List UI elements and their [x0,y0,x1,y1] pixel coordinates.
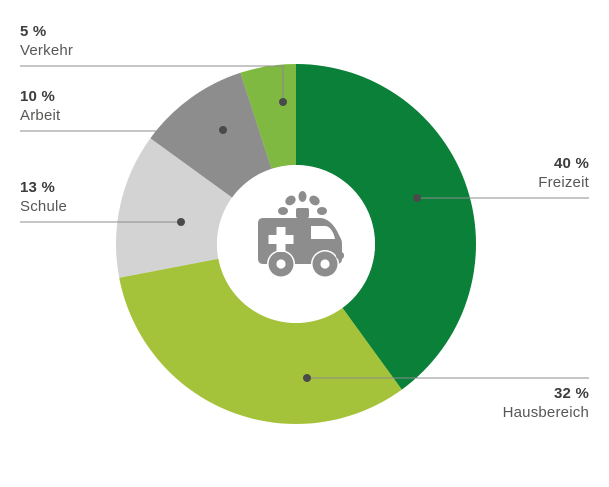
callout-value-verkehr: 5 % [20,22,240,41]
leader-dot-freizeit [413,194,421,202]
callout-label-hausbereich[interactable]: 32 % Hausbereich [369,384,589,423]
leader-dot-hausbereich [303,374,311,382]
callout-value-freizeit: 40 % [369,154,589,173]
leader-dot-schule [177,218,185,226]
callout-value-arbeit: 10 % [20,87,240,106]
callout-name-verkehr: Verkehr [20,41,240,61]
callout-label-verkehr[interactable]: 5 % Verkehr [20,22,240,61]
leader-dot-arbeit [219,126,227,134]
callout-name-schule: Schule [20,197,240,217]
donut-chart-figure: 5 % Verkehr 10 % Arbeit 13 % Schule 40 %… [0,0,609,487]
callout-name-freizeit: Freizeit [369,173,589,193]
callout-label-freizeit[interactable]: 40 % Freizeit [369,154,589,193]
leader-dot-verkehr [279,98,287,106]
callout-label-arbeit[interactable]: 10 % Arbeit [20,87,240,126]
callout-value-schule: 13 % [20,178,240,197]
callout-name-arbeit: Arbeit [20,106,240,126]
callout-name-hausbereich: Hausbereich [369,403,589,423]
callout-label-schule[interactable]: 13 % Schule [20,178,240,217]
callout-value-hausbereich: 32 % [369,384,589,403]
